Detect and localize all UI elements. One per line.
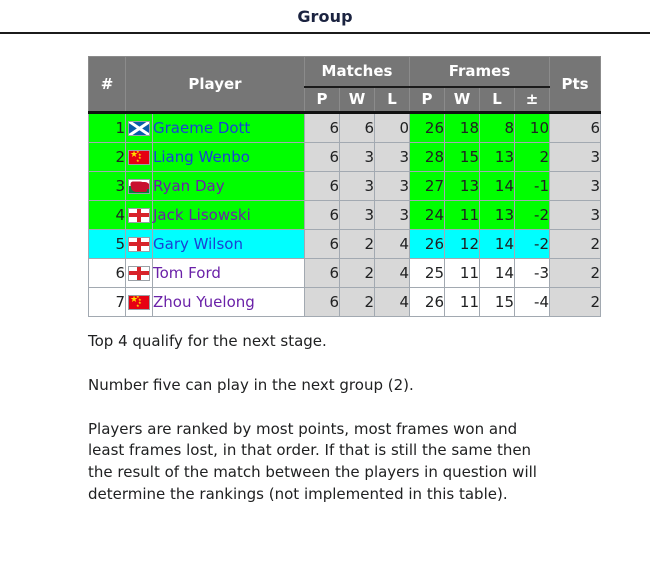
table-row: 7★★★★★Zhou Yuelong624261115-42 bbox=[89, 288, 601, 317]
table-row: 6Tom Ford624251114-32 bbox=[89, 259, 601, 288]
cell-matches-lost: 3 bbox=[375, 201, 410, 230]
table-row: 2★★★★★Liang Wenbo63328151323 bbox=[89, 143, 601, 172]
cell-frames-lost: 13 bbox=[480, 201, 515, 230]
cell-frames-difference: -1 bbox=[515, 172, 550, 201]
cell-matches-played: 6 bbox=[305, 143, 340, 172]
cell-points: 2 bbox=[550, 259, 601, 288]
column-header-matches-played: P bbox=[305, 87, 340, 113]
cell-frames-lost: 8 bbox=[480, 113, 515, 143]
cell-matches-won: 6 bbox=[340, 113, 375, 143]
cell-frames-lost: 13 bbox=[480, 143, 515, 172]
cell-matches-lost: 3 bbox=[375, 172, 410, 201]
cell-flag bbox=[126, 113, 153, 143]
cell-rank: 7 bbox=[89, 288, 126, 317]
england-flag bbox=[128, 237, 150, 252]
cell-flag: ★★★★★ bbox=[126, 143, 153, 172]
cell-player: Jack Lisowski bbox=[153, 201, 305, 230]
column-header-frames-difference: ± bbox=[515, 87, 550, 113]
cell-matches-played: 6 bbox=[305, 288, 340, 317]
cell-flag bbox=[126, 172, 153, 201]
notes-section: Top 4 qualify for the next stage. Number… bbox=[0, 331, 650, 506]
cell-frames-difference: 10 bbox=[515, 113, 550, 143]
cell-matches-played: 6 bbox=[305, 259, 340, 288]
cell-matches-lost: 4 bbox=[375, 288, 410, 317]
player-link[interactable]: Zhou Yuelong bbox=[153, 293, 255, 311]
column-header-points: Pts bbox=[550, 57, 601, 113]
note-fifth-place: Number five can play in the next group (… bbox=[88, 375, 650, 397]
cell-matches-played: 6 bbox=[305, 201, 340, 230]
cell-matches-won: 3 bbox=[340, 201, 375, 230]
cell-rank: 5 bbox=[89, 230, 126, 259]
group-standings-page: Group # Player Matches Frames Pts P W L … bbox=[0, 0, 650, 570]
cell-frames-lost: 15 bbox=[480, 288, 515, 317]
cell-frames-difference: 2 bbox=[515, 143, 550, 172]
column-header-rank: # bbox=[89, 57, 126, 113]
cell-frames-lost: 14 bbox=[480, 230, 515, 259]
cell-frames-difference: -3 bbox=[515, 259, 550, 288]
cell-flag bbox=[126, 259, 153, 288]
standings-table-container: # Player Matches Frames Pts P W L P W L … bbox=[0, 34, 650, 317]
england-flag bbox=[128, 208, 150, 223]
player-link[interactable]: Graeme Dott bbox=[153, 119, 250, 137]
table-row: 3Ryan Day633271314-13 bbox=[89, 172, 601, 201]
cell-matches-won: 3 bbox=[340, 143, 375, 172]
cell-matches-lost: 4 bbox=[375, 230, 410, 259]
table-body: 1Graeme Dott660261881062★★★★★Liang Wenbo… bbox=[89, 113, 601, 317]
player-link[interactable]: Jack Lisowski bbox=[153, 206, 251, 224]
cell-rank: 3 bbox=[89, 172, 126, 201]
header-row-primary: # Player Matches Frames Pts bbox=[89, 57, 601, 88]
column-header-matches-won: W bbox=[340, 87, 375, 113]
cell-frames-difference: -2 bbox=[515, 201, 550, 230]
cell-flag bbox=[126, 230, 153, 259]
cell-player: Gary Wilson bbox=[153, 230, 305, 259]
cell-matches-won: 3 bbox=[340, 172, 375, 201]
cell-matches-won: 2 bbox=[340, 288, 375, 317]
cell-frames-played: 26 bbox=[410, 113, 445, 143]
cell-frames-won: 18 bbox=[445, 113, 480, 143]
note-qualification: Top 4 qualify for the next stage. bbox=[88, 331, 650, 353]
column-header-frames-won: W bbox=[445, 87, 480, 113]
player-link[interactable]: Ryan Day bbox=[153, 177, 225, 195]
cell-matches-played: 6 bbox=[305, 172, 340, 201]
cell-points: 3 bbox=[550, 201, 601, 230]
cell-points: 3 bbox=[550, 172, 601, 201]
scotland-flag bbox=[128, 121, 150, 136]
china-flag: ★★★★★ bbox=[128, 150, 150, 165]
cell-rank: 4 bbox=[89, 201, 126, 230]
cell-frames-played: 27 bbox=[410, 172, 445, 201]
cell-player: Graeme Dott bbox=[153, 113, 305, 143]
column-header-frames-played: P bbox=[410, 87, 445, 113]
china-flag: ★★★★★ bbox=[128, 295, 150, 310]
table-header: # Player Matches Frames Pts P W L P W L … bbox=[89, 57, 601, 113]
cell-frames-lost: 14 bbox=[480, 259, 515, 288]
cell-frames-won: 15 bbox=[445, 143, 480, 172]
table-row: 1Graeme Dott66026188106 bbox=[89, 113, 601, 143]
cell-points: 3 bbox=[550, 143, 601, 172]
cell-frames-won: 11 bbox=[445, 259, 480, 288]
cell-player: Liang Wenbo bbox=[153, 143, 305, 172]
standings-table: # Player Matches Frames Pts P W L P W L … bbox=[88, 56, 601, 317]
player-link[interactable]: Tom Ford bbox=[153, 264, 221, 282]
cell-points: 2 bbox=[550, 288, 601, 317]
table-row: 5Gary Wilson624261214-22 bbox=[89, 230, 601, 259]
cell-matches-played: 6 bbox=[305, 113, 340, 143]
cell-player: Ryan Day bbox=[153, 172, 305, 201]
cell-frames-won: 11 bbox=[445, 201, 480, 230]
cell-player: Zhou Yuelong bbox=[153, 288, 305, 317]
england-flag bbox=[128, 266, 150, 281]
note-ranking-rules: Players are ranked by most points, most … bbox=[88, 419, 558, 506]
cell-points: 2 bbox=[550, 230, 601, 259]
column-header-matches-lost: L bbox=[375, 87, 410, 113]
cell-frames-won: 13 bbox=[445, 172, 480, 201]
player-link[interactable]: Liang Wenbo bbox=[153, 148, 250, 166]
cell-flag: ★★★★★ bbox=[126, 288, 153, 317]
cell-rank: 6 bbox=[89, 259, 126, 288]
cell-matches-lost: 3 bbox=[375, 143, 410, 172]
cell-frames-played: 26 bbox=[410, 230, 445, 259]
page-title: Group bbox=[0, 0, 650, 31]
cell-rank: 1 bbox=[89, 113, 126, 143]
cell-frames-played: 25 bbox=[410, 259, 445, 288]
cell-frames-played: 24 bbox=[410, 201, 445, 230]
cell-matches-lost: 0 bbox=[375, 113, 410, 143]
cell-player: Tom Ford bbox=[153, 259, 305, 288]
cell-matches-played: 6 bbox=[305, 230, 340, 259]
cell-frames-lost: 14 bbox=[480, 172, 515, 201]
player-link[interactable]: Gary Wilson bbox=[153, 235, 243, 253]
cell-frames-difference: -2 bbox=[515, 230, 550, 259]
cell-frames-played: 26 bbox=[410, 288, 445, 317]
cell-matches-lost: 4 bbox=[375, 259, 410, 288]
cell-points: 6 bbox=[550, 113, 601, 143]
table-row: 4Jack Lisowski633241113-23 bbox=[89, 201, 601, 230]
cell-flag bbox=[126, 201, 153, 230]
cell-frames-difference: -4 bbox=[515, 288, 550, 317]
cell-rank: 2 bbox=[89, 143, 126, 172]
cell-matches-won: 2 bbox=[340, 230, 375, 259]
column-header-matches: Matches bbox=[305, 57, 410, 88]
cell-frames-played: 28 bbox=[410, 143, 445, 172]
cell-matches-won: 2 bbox=[340, 259, 375, 288]
column-header-frames: Frames bbox=[410, 57, 550, 88]
column-header-player: Player bbox=[126, 57, 305, 113]
wales-flag bbox=[128, 179, 150, 194]
cell-frames-won: 12 bbox=[445, 230, 480, 259]
cell-frames-won: 11 bbox=[445, 288, 480, 317]
column-header-frames-lost: L bbox=[480, 87, 515, 113]
